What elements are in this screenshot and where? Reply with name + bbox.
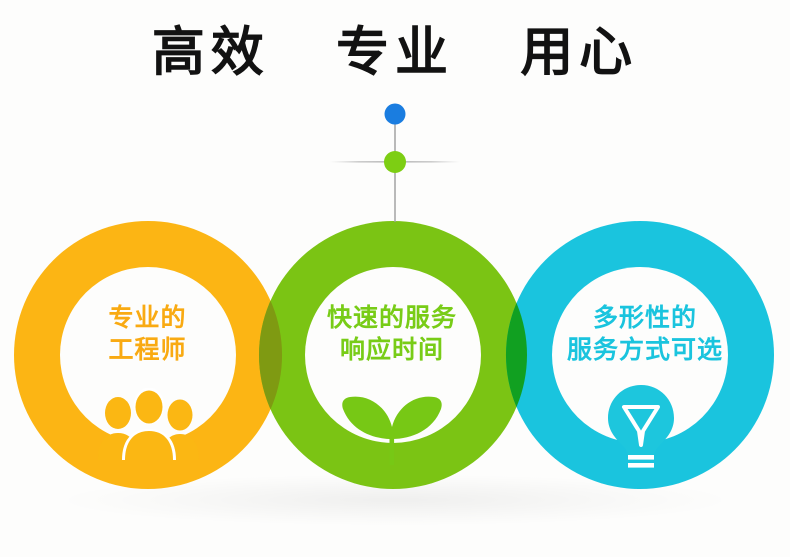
- sprout-stem: [390, 433, 395, 465]
- sprout-icon: [337, 383, 447, 465]
- circle-label-left-line-2: 工程师: [40, 334, 255, 366]
- circle-label-right-line-2: 服务方式可选: [520, 334, 770, 366]
- title-word-2: 专业: [336, 26, 454, 79]
- circle-label-right-line-1: 多形性的: [520, 302, 770, 334]
- lightbulb-glass: [608, 385, 674, 458]
- circle-label-middle: 快速的服务 响应时间: [284, 302, 500, 366]
- people-icon: [96, 388, 202, 460]
- infographic-canvas: 高效 专业 用心 专业的 工程师 快速的服务 响应时间: [0, 0, 790, 557]
- circle-label-left: 专业的 工程师: [40, 302, 255, 366]
- title-word-3: 用心: [520, 26, 638, 79]
- sprout-leaf-left: [342, 397, 392, 439]
- circle-label-middle-line-1: 快速的服务: [284, 302, 500, 334]
- title-word-1: 高效: [152, 26, 270, 79]
- lightbulb-base-band-2: [628, 463, 654, 468]
- page-title: 高效 专业 用心: [0, 26, 790, 79]
- circle-label-left-line-1: 专业的: [40, 302, 255, 334]
- lightbulb-base-band-1: [628, 455, 654, 460]
- venn-rings: [0, 0, 790, 557]
- circle-label-right: 多形性的 服务方式可选: [520, 302, 770, 366]
- circle-label-middle-line-2: 响应时间: [284, 334, 500, 366]
- sprout-leaf-right: [392, 397, 442, 439]
- lightbulb-icon: [598, 383, 684, 469]
